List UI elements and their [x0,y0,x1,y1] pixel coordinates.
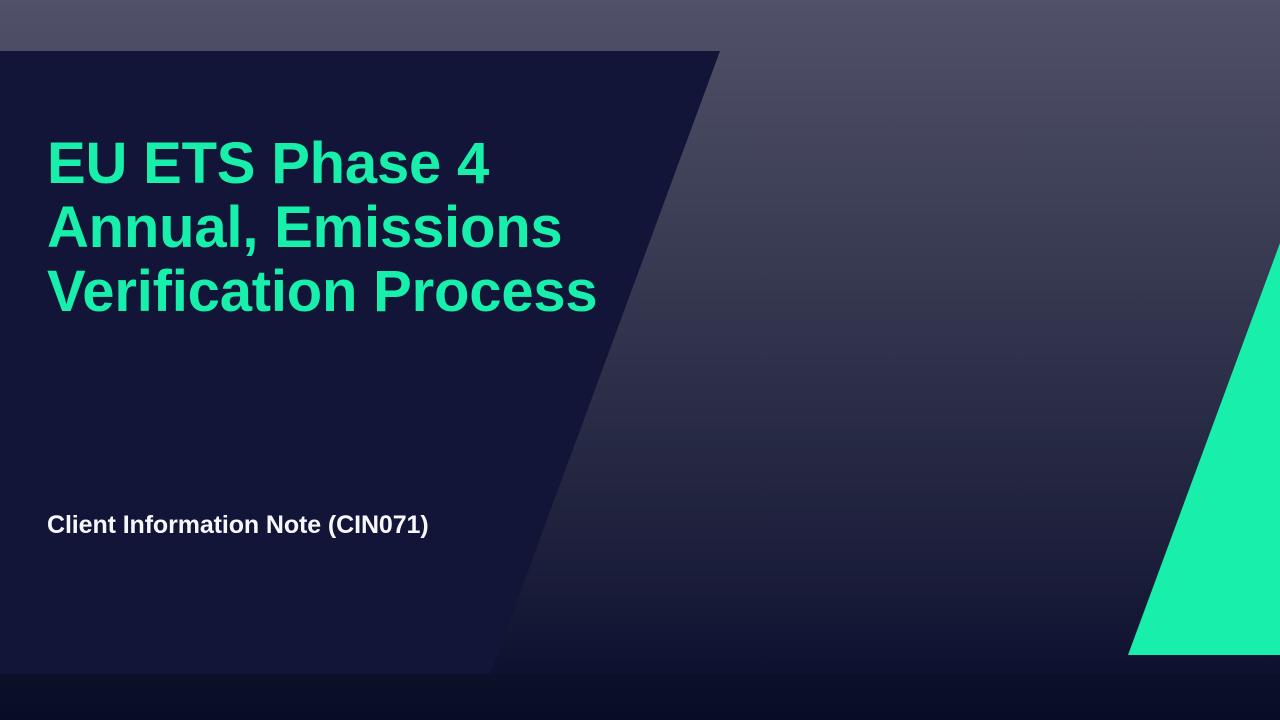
slide-text-layer: EU ETS Phase 4 Annual, Emissions Verific… [0,0,1280,720]
slide-subtitle: Client Information Note (CIN071) [47,505,567,546]
title-slide: EU ETS Phase 4 Annual, Emissions Verific… [0,0,1280,720]
page-title: EU ETS Phase 4 Annual, Emissions Verific… [47,132,607,324]
